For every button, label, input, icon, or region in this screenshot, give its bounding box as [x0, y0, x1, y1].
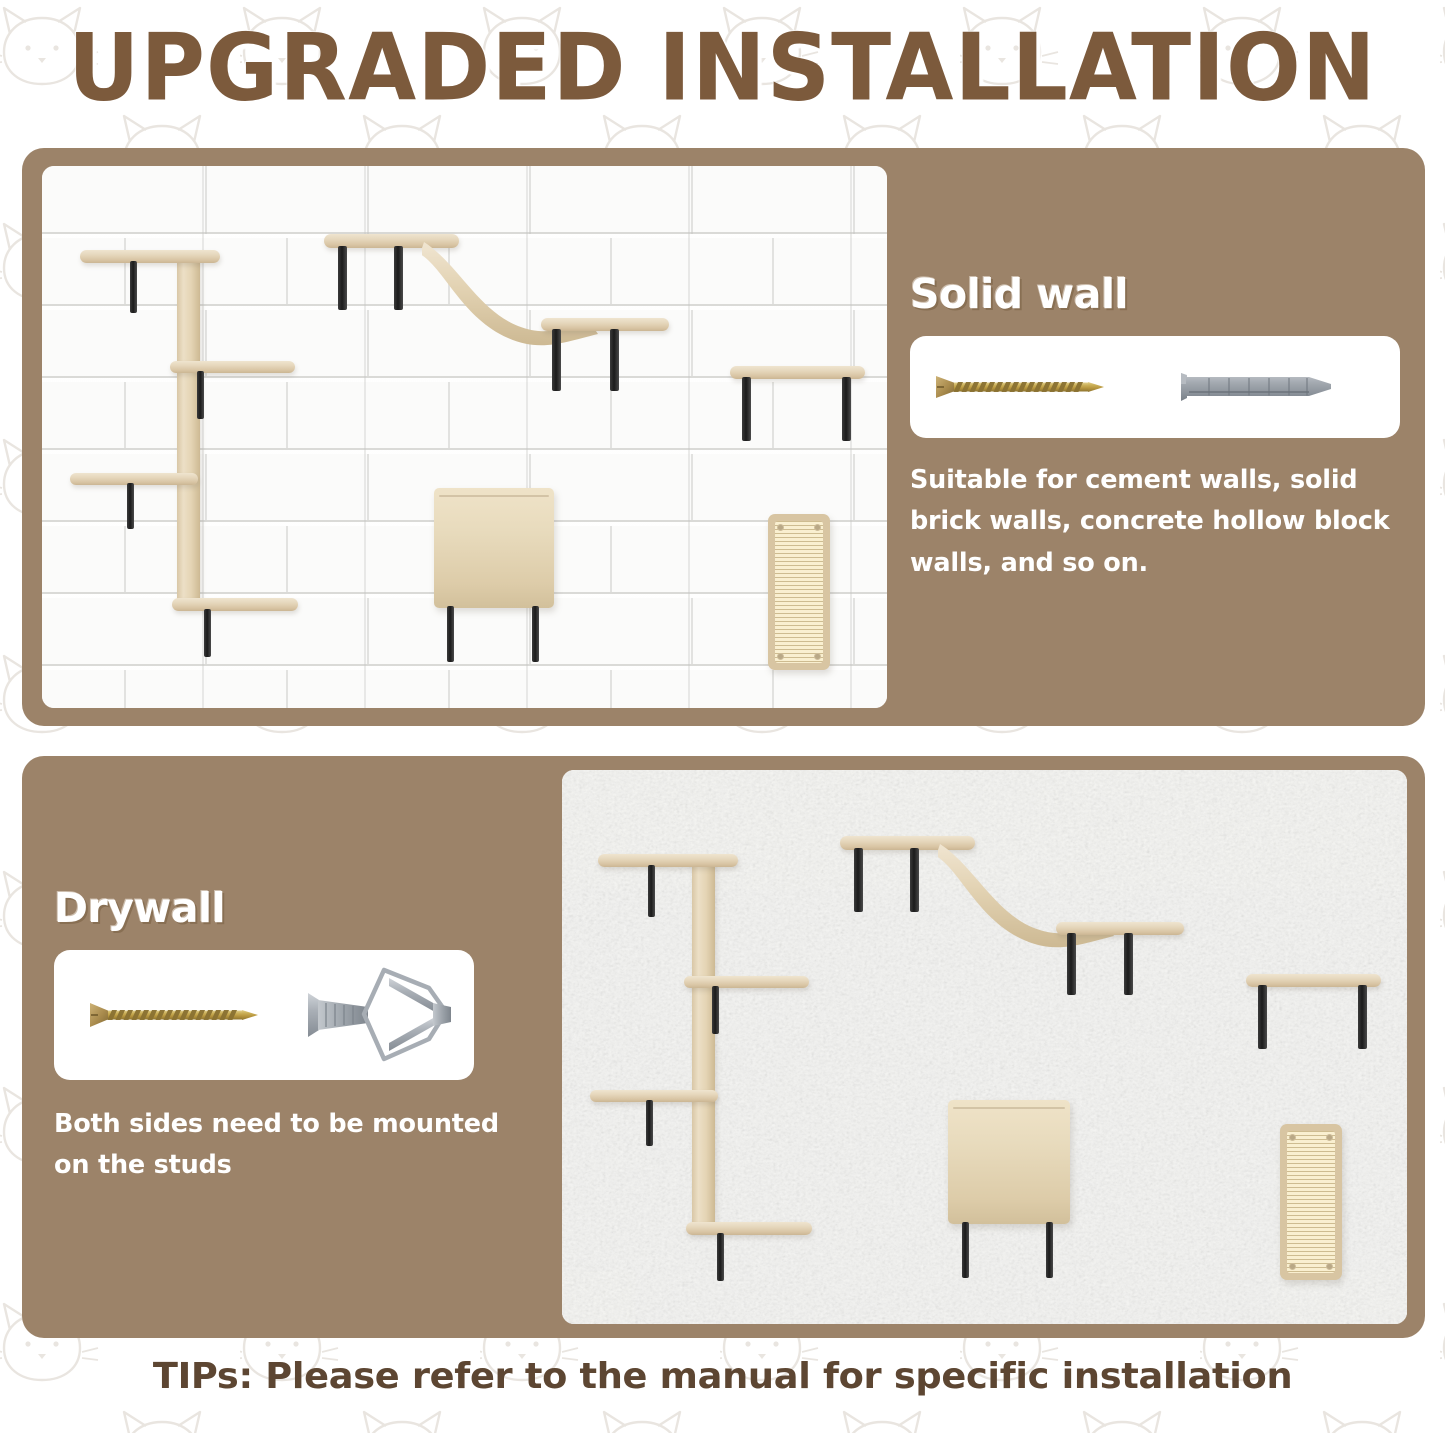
tips-text: TIPs: Please refer to the manual for spe…	[153, 1356, 1292, 1397]
mounting-bracket	[532, 606, 539, 662]
post-step-shelf-4	[172, 598, 298, 611]
mounting-bracket	[447, 606, 454, 662]
drywall-text-block: Drywall	[54, 884, 544, 1187]
mounting-bracket	[552, 329, 561, 391]
tips-footer: TIPs: Please refer to the manual for spe…	[0, 1356, 1445, 1397]
grommet	[1326, 1263, 1333, 1270]
post-step-shelf-2	[684, 976, 809, 988]
mounting-bracket	[394, 246, 403, 310]
mounting-bracket	[127, 483, 134, 529]
page-title: UPGRADED INSTALLATION	[0, 8, 1445, 126]
grommet	[777, 524, 784, 531]
mounting-bracket	[130, 261, 137, 313]
drywall-hardware-card	[54, 950, 474, 1080]
grommet	[1326, 1134, 1333, 1141]
mounting-bracket	[648, 865, 655, 917]
mounting-bracket	[197, 371, 204, 419]
drywall-description: Both sides need to be mounted on the stu…	[54, 1104, 524, 1187]
mounting-bracket	[712, 986, 719, 1034]
page-title-text: UPGRADED INSTALLATION	[68, 13, 1377, 122]
mounting-bracket	[338, 246, 347, 310]
mounting-bracket	[962, 1222, 969, 1278]
wall-plug-icon	[1178, 369, 1336, 405]
post-step-shelf-3	[590, 1090, 718, 1102]
grommet	[1289, 1263, 1296, 1270]
post-step-shelf-1	[80, 250, 220, 263]
mounting-bracket	[1258, 985, 1267, 1049]
solid-wall-hardware-card	[910, 336, 1400, 438]
mounting-bracket	[717, 1233, 724, 1281]
mounting-bracket	[1046, 1222, 1053, 1278]
grommet	[814, 524, 821, 531]
drywall-heading: Drywall	[54, 884, 544, 932]
mounting-bracket	[1358, 985, 1367, 1049]
grommet	[777, 653, 784, 660]
toggle-anchor-icon	[304, 964, 454, 1066]
hanging-hammock-bed	[948, 1100, 1070, 1224]
post-step-shelf-1	[598, 854, 738, 867]
screw-icon	[935, 372, 1105, 402]
mounting-bracket	[842, 377, 851, 441]
mounting-bracket	[204, 609, 211, 657]
solid-wall-panel: Solid wall	[22, 148, 1425, 726]
post-step-shelf-4	[686, 1222, 812, 1235]
mounting-bracket	[910, 848, 919, 912]
solid-wall-photo	[42, 166, 887, 708]
scratching-post-column	[177, 258, 200, 606]
sisal-surface	[1287, 1131, 1335, 1273]
mounting-bracket	[610, 329, 619, 391]
mounting-bracket	[854, 848, 863, 912]
sisal-scratching-board	[1280, 1124, 1342, 1280]
curved-ramp-bridge	[938, 840, 1168, 960]
sisal-scratching-board	[768, 514, 830, 670]
screw-icon	[79, 1000, 269, 1030]
solid-wall-text-block: Solid wall	[910, 270, 1410, 584]
post-step-shelf-3	[70, 473, 198, 485]
mounting-bracket	[1124, 933, 1133, 995]
mounting-bracket	[742, 377, 751, 441]
post-step-shelf-2	[170, 361, 295, 373]
mounting-bracket	[1067, 933, 1076, 995]
scratching-post-column	[692, 862, 715, 1232]
sisal-surface	[775, 521, 823, 663]
drywall-photo	[562, 770, 1407, 1324]
hanging-hammock-bed	[434, 488, 554, 608]
grommet	[1289, 1134, 1296, 1141]
mounting-bracket	[646, 1100, 653, 1146]
grommet	[814, 653, 821, 660]
drywall-panel: Drywall	[22, 756, 1425, 1338]
solid-wall-description: Suitable for cement walls, solid brick w…	[910, 460, 1408, 584]
solid-wall-heading: Solid wall	[910, 270, 1410, 318]
